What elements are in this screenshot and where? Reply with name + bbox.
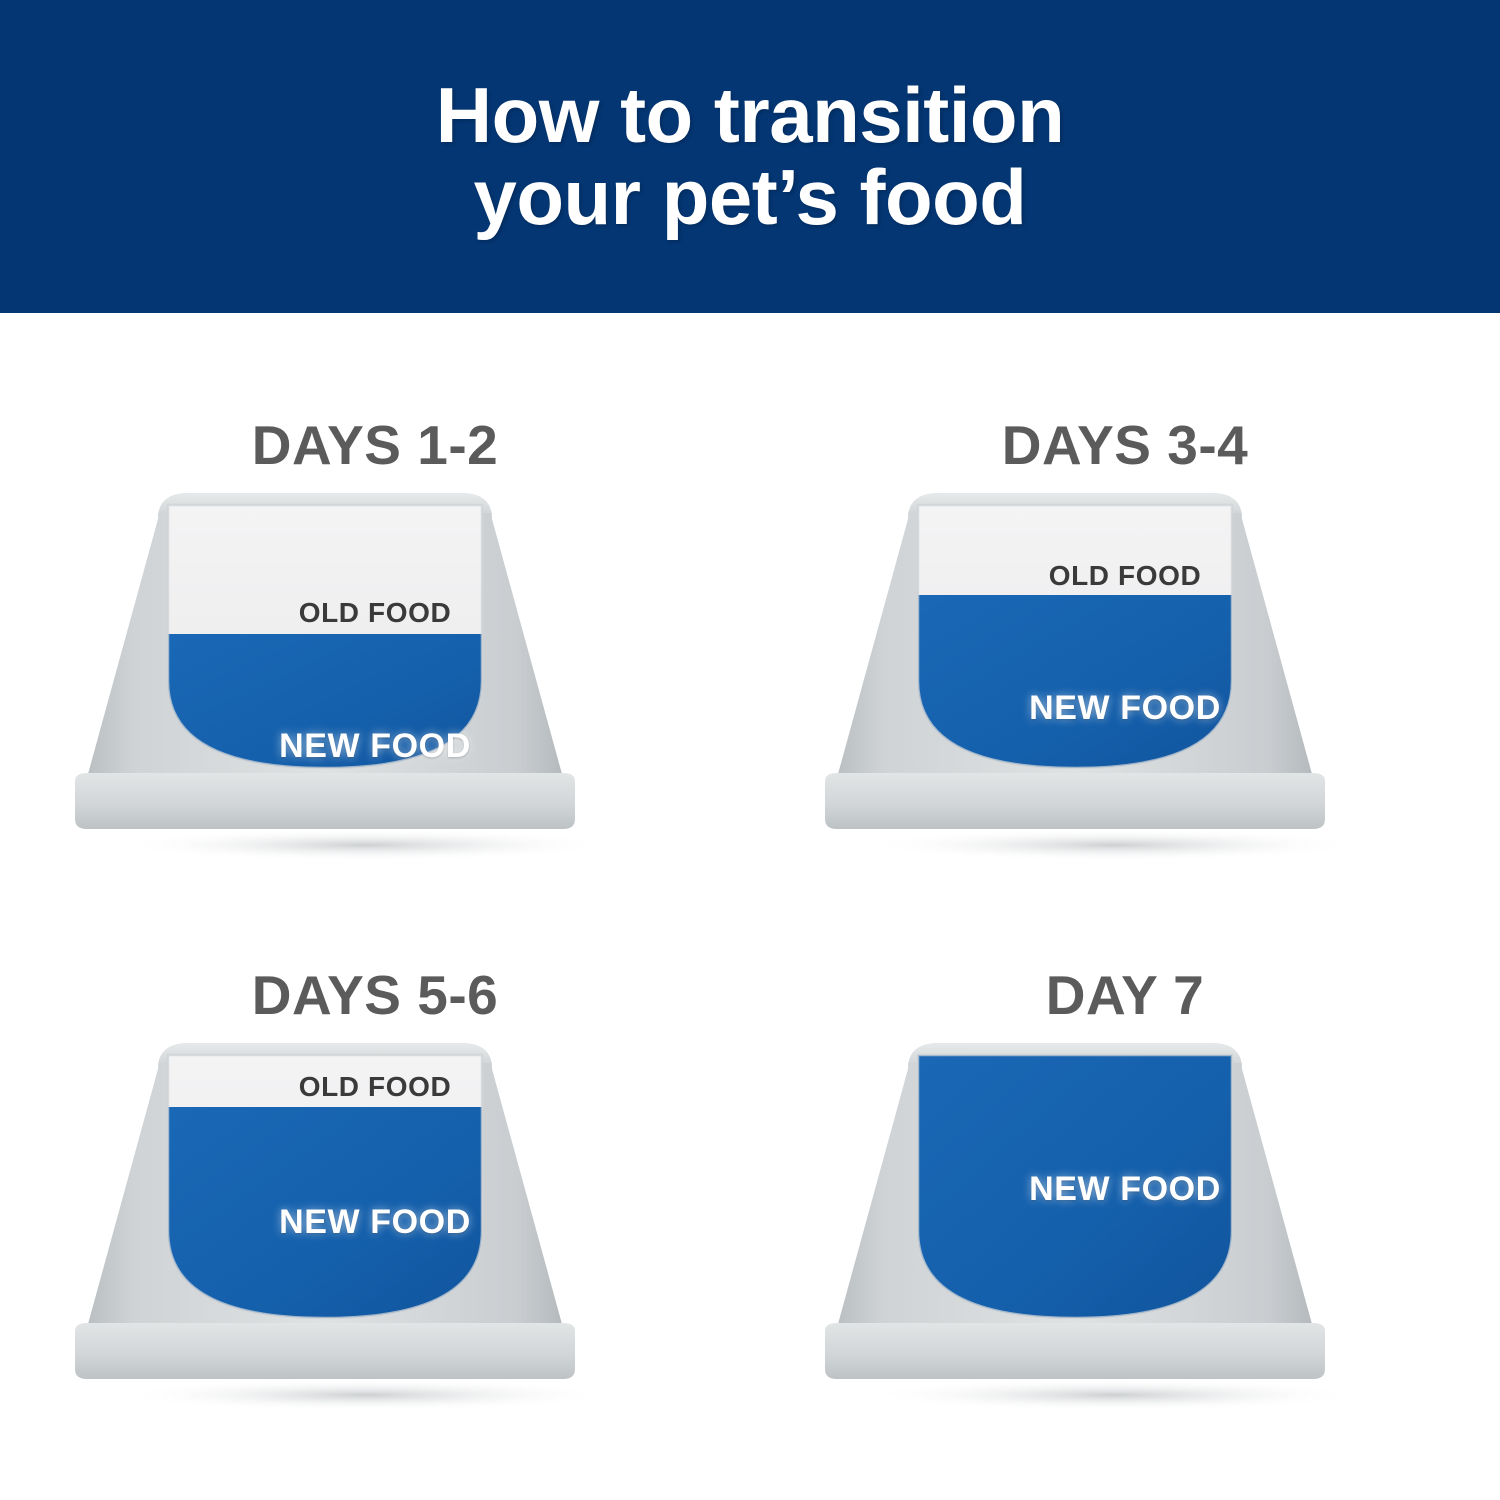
panel-label-day-7: DAY 7 [1046,963,1204,1027]
panel-day-7: DAY 7 NEW FOOD [750,907,1500,1500]
page-title: How to transition your pet’s food [376,75,1124,237]
panel-days-3-4: DAYS 3-4 OLD FOOD NEW [750,313,1500,907]
bowl-illustration [815,1035,1435,1435]
panel-days-5-6: DAYS 5-6 OLD FOOD NEW [0,907,750,1500]
bowl-days-5-6: OLD FOOD NEW FOOD [65,1035,685,1435]
infographic-page: How to transition your pet’s food DAYS 1… [0,0,1500,1500]
panel-days-1-2: DAYS 1-2 [0,313,750,907]
bowl-day-7: NEW FOOD [815,1035,1435,1435]
page-title-line-2: your pet’s food [436,157,1064,238]
bowl-days-1-2: OLD FOOD NEW FOOD [65,485,685,885]
bowl-days-3-4: OLD FOOD NEW FOOD [815,485,1435,885]
panel-label-days-3-4: DAYS 3-4 [1002,413,1249,477]
header-banner: How to transition your pet’s food [0,0,1500,313]
panel-label-days-5-6: DAYS 5-6 [252,963,499,1027]
bowl-illustration [815,485,1435,885]
panel-label-days-1-2: DAYS 1-2 [252,413,499,477]
bowl-illustration [65,485,685,885]
page-title-line-1: How to transition [436,75,1064,156]
bowl-grid: DAYS 1-2 [0,313,1500,1500]
bowl-illustration [65,1035,685,1435]
